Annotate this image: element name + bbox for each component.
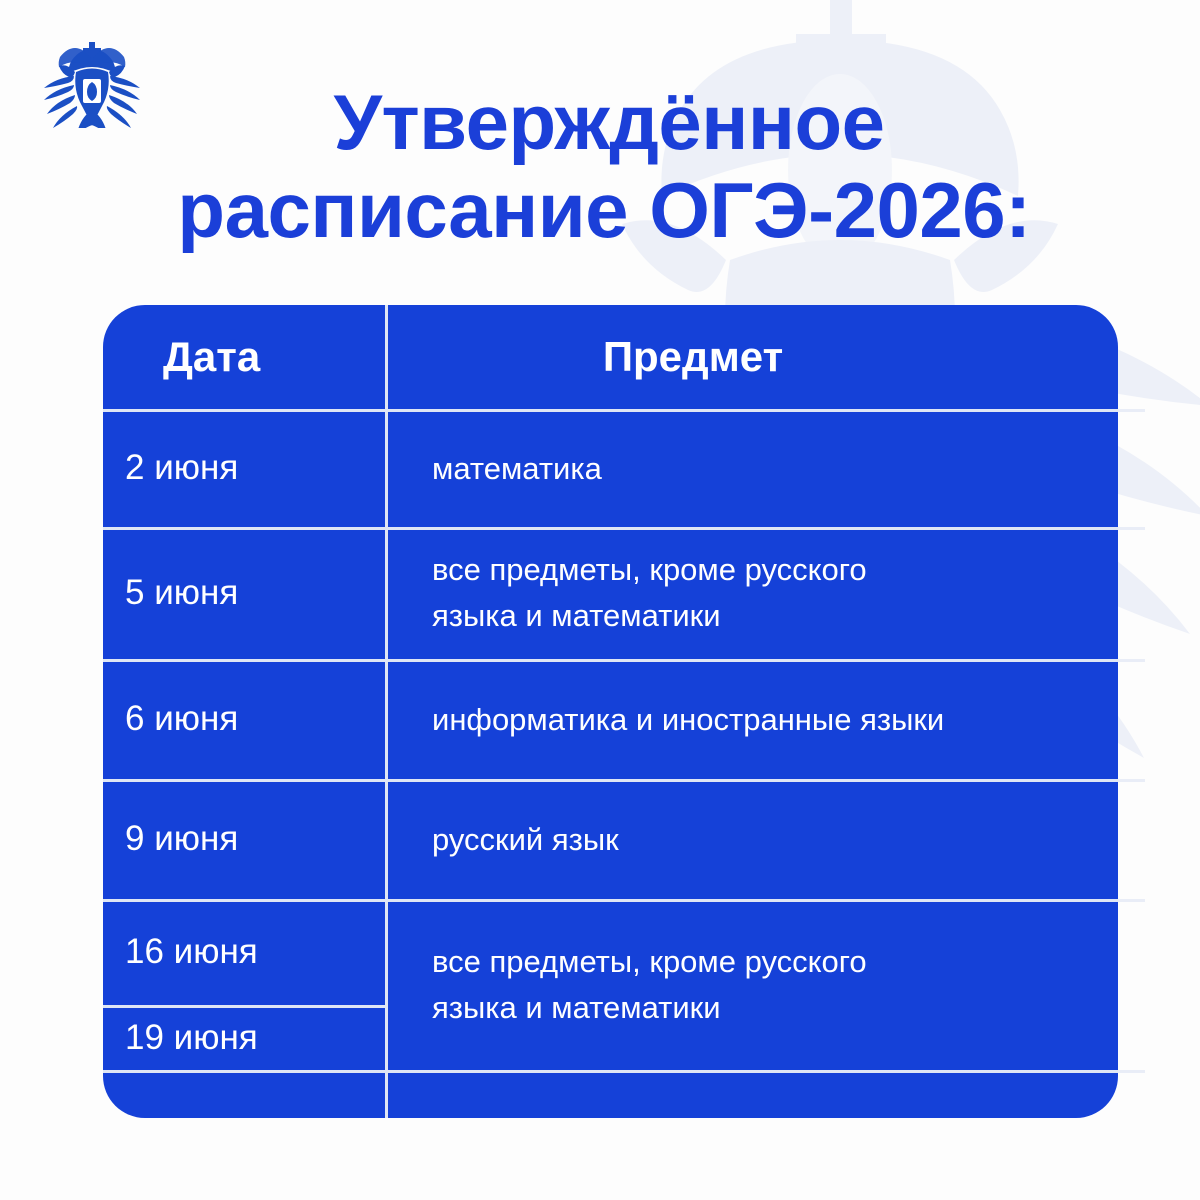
cell-subject-text: информатика и иностранные языки	[432, 697, 944, 742]
table-row: 16 июня	[103, 899, 385, 1005]
cell-date: 19 июня	[125, 1016, 258, 1060]
table-row: 19 июня	[103, 1005, 385, 1070]
rosobrnadzor-double-headed-eagle-emblem	[38, 40, 146, 128]
page-title: Утверждённое расписание ОГЭ-2026:	[0, 78, 1200, 254]
title-line-1: Утверждённое	[0, 78, 1200, 166]
cell-subject: русский язык	[388, 779, 1118, 899]
cell-subject-text: все предметы, кроме русского языка и мат…	[432, 547, 867, 639]
cell-subject: математика	[388, 409, 1118, 527]
cell-subject-line: языка и математики	[432, 985, 867, 1031]
cell-subject-merged: все предметы, кроме русского языка и мат…	[388, 899, 1118, 1070]
title-line-2: расписание ОГЭ-2026:	[0, 166, 1200, 254]
cell-subject-line: языка и математики	[432, 593, 867, 639]
cell-subject: информатика и иностранные языки	[388, 659, 1118, 779]
table-row: 6 июня	[103, 659, 385, 779]
cell-date: 6 июня	[125, 697, 238, 741]
cell-subject: все предметы, кроме русского языка и мат…	[388, 527, 1118, 659]
exam-schedule-table: Дата Предмет 2 июня математика 5 июня вс…	[103, 305, 1118, 1118]
cell-subject-line: все предметы, кроме русского	[432, 547, 867, 593]
cell-subject-text: математика	[432, 446, 602, 491]
cell-subject-line: все предметы, кроме русского	[432, 939, 867, 985]
table-row: 5 июня	[103, 527, 385, 659]
cell-date: 2 июня	[125, 446, 238, 490]
cell-subject-text: все предметы, кроме русского языка и мат…	[432, 939, 867, 1031]
cell-subject	[388, 1070, 1118, 1118]
table-row: 9 июня	[103, 779, 385, 899]
table-row: 2 июня	[103, 409, 385, 527]
cell-date: 5 июня	[125, 571, 238, 615]
column-header-subject: Предмет	[388, 305, 1118, 409]
infographic-poster: Утверждённое расписание ОГЭ-2026: Дата	[0, 0, 1200, 1200]
cell-date: 16 июня	[125, 930, 258, 974]
cell-subject-text: русский язык	[432, 817, 619, 862]
column-header-date: Дата	[103, 305, 385, 409]
table-row	[103, 1070, 385, 1118]
cell-date: 9 июня	[125, 817, 238, 861]
